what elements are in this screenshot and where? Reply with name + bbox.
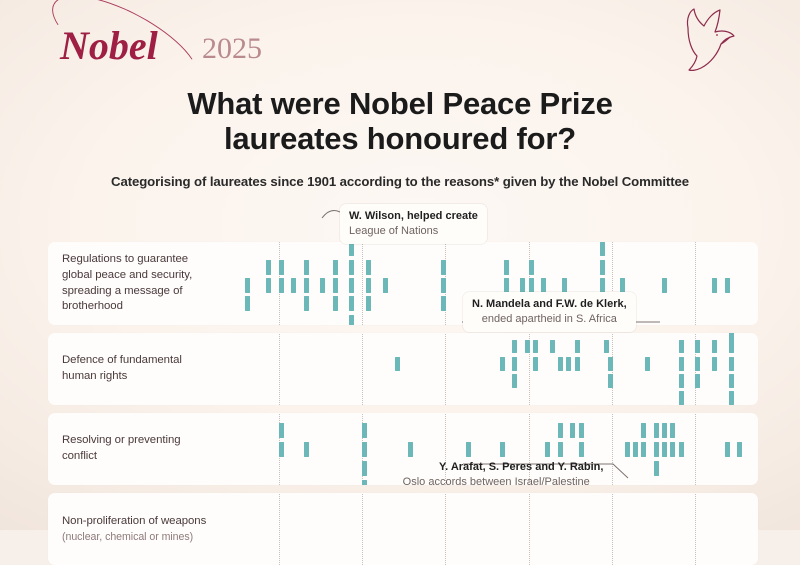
chart-bar-mark (504, 278, 509, 293)
row-label-non-proliferation: Non-proliferation of weapons (nuclear, c… (62, 493, 242, 565)
chart-gridline (695, 413, 696, 485)
chart-bar-mark (349, 315, 354, 325)
chart-bar-mark (512, 357, 517, 371)
chart-bar-mark (579, 423, 584, 438)
row-plot-non-proliferation (241, 493, 758, 565)
chart-bar-mark (558, 357, 563, 371)
chart-bar-mark (645, 357, 650, 371)
chart-bar-mark (279, 442, 284, 457)
annotation-wilson-line2: League of Nations (349, 224, 478, 239)
annotation-mandela-line1: N. Mandela and F.W. de Klerk, (472, 297, 627, 312)
chart-bar-mark (349, 278, 354, 293)
chart-bar-mark (737, 442, 742, 457)
infographic-root: Nobel 2025 What were Nobel Peace Prize l… (0, 0, 800, 530)
chart-bar-mark (670, 423, 675, 438)
chart-gridline (362, 493, 363, 565)
chart-bar-mark (670, 442, 675, 457)
laureate-category-chart: Regulations to guarantee global peace an… (48, 242, 758, 542)
chart-bar-mark (550, 340, 555, 354)
chart-bar-mark (679, 374, 684, 388)
chart-bar-mark (525, 340, 530, 354)
chart-bar-mark (529, 260, 534, 275)
row-label-regulations: Regulations to guarantee global peace an… (62, 242, 242, 325)
chart-bar-mark (304, 278, 309, 293)
chart-bar-mark (562, 278, 567, 293)
chart-bar-mark (383, 278, 388, 293)
chart-bar-mark (320, 278, 325, 293)
chart-bar-mark (279, 423, 284, 438)
annotation-mandela[interactable]: N. Mandela and F.W. de Klerk, ended apar… (463, 292, 636, 332)
annotation-oslo[interactable]: Y. Arafat, S. Peres and Y. Rabin, Oslo a… (380, 455, 612, 495)
chart-bar-mark (625, 442, 630, 457)
chart-gridline (695, 493, 696, 565)
chart-bar-mark (695, 357, 700, 371)
chart-bar-mark (654, 442, 659, 457)
chart-bar-mark (304, 442, 309, 457)
chart-bar-mark (266, 260, 271, 275)
chart-bar-mark (729, 391, 734, 405)
chart-bar-mark (729, 374, 734, 388)
chart-gridline (362, 333, 363, 405)
chart-bar-mark (712, 278, 717, 293)
annotation-oslo-line2: Oslo accords between Israel/Palestine (389, 475, 603, 490)
chart-bar-mark (654, 423, 659, 438)
chart-gridline (612, 493, 613, 565)
leader-wilson (322, 210, 340, 218)
chart-bar-mark (366, 260, 371, 275)
chart-bar-mark (575, 357, 580, 371)
chart-gridline (279, 333, 280, 405)
nobel-brand-logo: Nobel 2025 (36, 10, 266, 72)
chart-bar-mark (695, 374, 700, 388)
chart-bar-mark (662, 442, 667, 457)
chart-bar-mark (662, 423, 667, 438)
chart-bar-mark (679, 391, 684, 405)
chart-bar-mark (362, 461, 367, 476)
dove-icon (670, 6, 748, 76)
chart-bar-mark (279, 260, 284, 275)
chart-row-regulations: Regulations to guarantee global peace an… (48, 242, 758, 325)
page-subtitle: Categorising of laureates since 1901 acc… (0, 174, 800, 189)
chart-bar-mark (533, 340, 538, 354)
chart-bar-mark (279, 278, 284, 293)
chart-bar-mark (512, 374, 517, 388)
chart-bar-mark (533, 357, 538, 371)
chart-bar-mark (608, 357, 613, 371)
chart-bar-mark (654, 461, 659, 476)
chart-bar-mark (725, 278, 730, 293)
chart-bar-mark (366, 296, 371, 311)
chart-gridline (445, 493, 446, 565)
chart-bar-mark (349, 260, 354, 275)
chart-bar-mark (620, 278, 625, 293)
annotation-wilson-line1: W. Wilson, helped create (349, 209, 478, 224)
chart-bar-mark (333, 278, 338, 293)
chart-gridline (279, 493, 280, 565)
chart-bar-mark (641, 423, 646, 438)
chart-bar-mark (541, 278, 546, 293)
title-line-2: laureates honoured for? (0, 121, 800, 156)
chart-bar-mark (662, 278, 667, 293)
chart-bar-mark (600, 260, 605, 275)
chart-bar-mark (633, 442, 638, 457)
chart-bar-mark (333, 260, 338, 275)
chart-bar-mark (695, 340, 700, 354)
chart-gridline (362, 242, 363, 325)
chart-bar-mark (441, 260, 446, 275)
chart-bar-mark (725, 442, 730, 457)
chart-bar-mark (712, 340, 717, 354)
chart-bar-mark (395, 357, 400, 371)
brand-name: Nobel (60, 22, 158, 69)
chart-bar-mark (441, 278, 446, 293)
annotation-wilson[interactable]: W. Wilson, helped create League of Natio… (340, 204, 487, 244)
chart-bar-mark (679, 442, 684, 457)
annotation-oslo-line1: Y. Arafat, S. Peres and Y. Rabin, (389, 460, 603, 475)
chart-gridline (612, 413, 613, 485)
chart-bar-mark (729, 357, 734, 371)
chart-bar-mark (500, 357, 505, 371)
brand-year: 2025 (202, 32, 262, 66)
chart-bar-mark (529, 278, 534, 293)
chart-row-non-proliferation: Non-proliferation of weapons (nuclear, c… (48, 493, 758, 565)
title-line-1: What were Nobel Peace Prize (0, 86, 800, 121)
chart-bar-mark (362, 480, 367, 486)
chart-bar-mark (362, 442, 367, 457)
row-plot-human-rights (241, 333, 758, 405)
chart-bar-mark (304, 260, 309, 275)
chart-bar-mark (349, 242, 354, 256)
chart-bar-mark (245, 278, 250, 293)
chart-bar-mark (504, 260, 509, 275)
chart-gridline (695, 242, 696, 325)
chart-bar-mark (333, 296, 338, 311)
row-label-human-rights: Defence of fundamental human rights (62, 333, 242, 405)
chart-bar-mark (304, 296, 309, 311)
chart-bar-mark (641, 442, 646, 457)
chart-bar-mark (245, 296, 250, 311)
chart-bar-mark (520, 278, 525, 293)
chart-bar-mark (362, 423, 367, 438)
annotation-mandela-line2: ended apartheid in S. Africa (472, 312, 627, 327)
chart-bar-mark (679, 340, 684, 354)
page-title: What were Nobel Peace Prize laureates ho… (0, 86, 800, 156)
chart-bar-mark (566, 357, 571, 371)
chart-gridline (529, 493, 530, 565)
chart-gridline (445, 333, 446, 405)
chart-bar-mark (712, 357, 717, 371)
chart-row-human-rights: Defence of fundamental human rights (48, 333, 758, 405)
chart-bar-mark (366, 278, 371, 293)
chart-bar-mark (570, 423, 575, 438)
chart-bar-mark (600, 242, 605, 256)
chart-bar-mark (600, 278, 605, 293)
chart-bar-mark (575, 340, 580, 354)
chart-bar-mark (441, 296, 446, 311)
chart-bar-mark (349, 296, 354, 311)
chart-bar-mark (512, 340, 517, 354)
row-label-conflict: Resolving or preventing conflict (62, 413, 242, 485)
chart-bar-mark (729, 340, 734, 354)
chart-bar-mark (558, 423, 563, 438)
chart-bar-mark (266, 278, 271, 293)
chart-bar-mark (291, 278, 296, 293)
chart-bar-mark (679, 357, 684, 371)
chart-bar-mark (608, 374, 613, 388)
chart-bar-mark (604, 340, 609, 354)
